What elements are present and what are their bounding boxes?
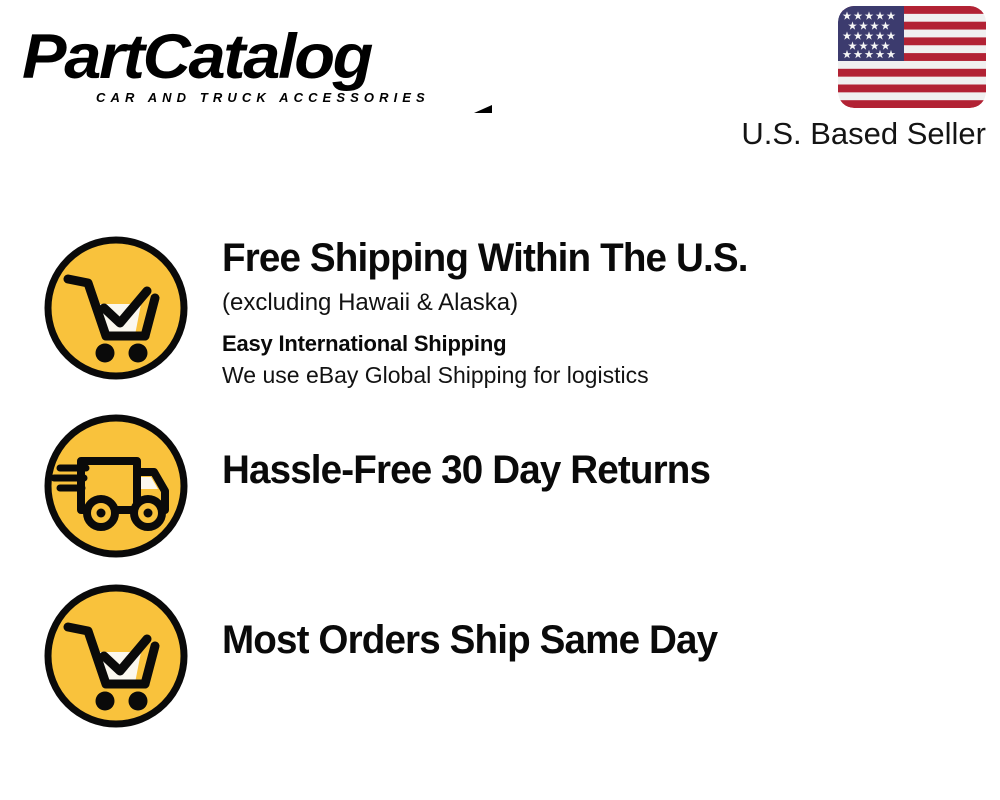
page-header: PartCatalog CAR AND TRUCK ACCESSORIES [0, 0, 1000, 170]
feature-text-block: Most Orders Ship Same Day [192, 580, 735, 665]
feature-row: Hassle-Free 30 Day Returns [40, 410, 728, 562]
feature-title: Hassle-Free 30 Day Returns [222, 446, 710, 495]
feature-row: Most Orders Ship Same Day [40, 580, 735, 732]
feature-row: Free Shipping Within The U.S. (excluding… [40, 232, 767, 391]
feature-text-block: Hassle-Free 30 Day Returns [192, 410, 728, 495]
us-based-seller-label: U.S. Based Seller [716, 116, 986, 152]
delivery-truck-icon [40, 410, 192, 562]
feature-title: Most Orders Ship Same Day [222, 616, 717, 665]
logo-wordmark: PartCatalog [22, 24, 371, 90]
shopping-cart-check-icon [40, 232, 192, 384]
feature-title: Free Shipping Within The U.S. [222, 234, 748, 283]
brand-logo[interactable]: PartCatalog CAR AND TRUCK ACCESSORIES [22, 24, 492, 116]
feature-subtext: We use eBay Global Shipping for logistic… [222, 360, 767, 391]
shopping-cart-check-icon [40, 580, 192, 732]
feature-note: (excluding Hawaii & Alaska) [222, 286, 767, 319]
feature-text-block: Free Shipping Within The U.S. (excluding… [192, 232, 767, 391]
logo-tagline: CAR AND TRUCK ACCESSORIES [96, 90, 430, 105]
feature-subheading: Easy International Shipping [222, 329, 767, 359]
us-flag-icon [838, 6, 986, 108]
logo-underline-swoosh [22, 104, 492, 114]
us-based-seller-badge: U.S. Based Seller [716, 6, 986, 152]
